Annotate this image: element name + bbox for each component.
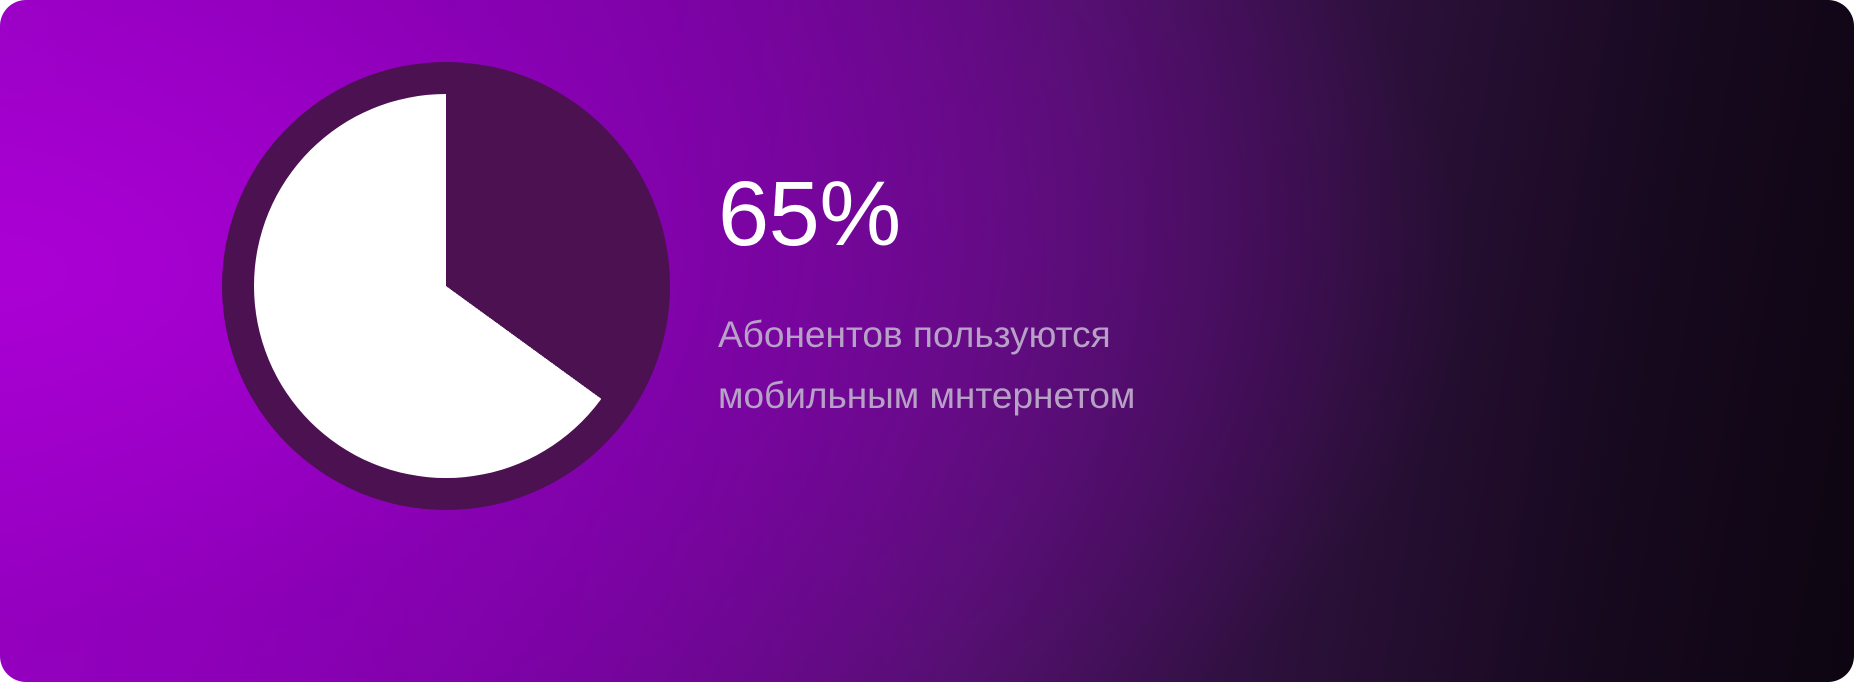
stat-value: 65% <box>718 168 1618 260</box>
stat-caption-line-2: мобильным мнтернетом <box>718 365 1618 426</box>
stat-caption: Абонентов пользуются мобильным мнтернето… <box>718 304 1618 426</box>
stat-caption-line-1: Абонентов пользуются <box>718 304 1618 365</box>
stat-text-block: 65% Абонентов пользуются мобильным мнтер… <box>718 168 1618 426</box>
stat-card: 65% Абонентов пользуются мобильным мнтер… <box>0 0 1854 682</box>
pie-chart-slices <box>254 94 638 478</box>
pie-chart <box>222 62 670 510</box>
